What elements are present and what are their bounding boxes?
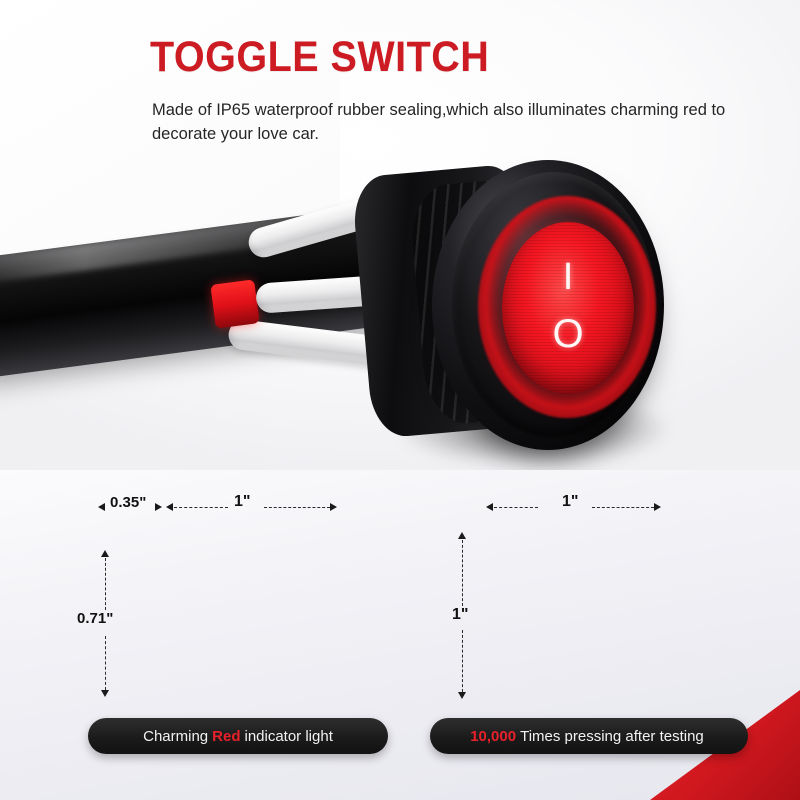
dim-arrow-up-071	[101, 550, 109, 557]
page-subtitle: Made of IP65 waterproof rubber sealing,w…	[152, 99, 752, 147]
dim-arrow-down-height	[458, 692, 466, 699]
dim-arrow-right-1in	[330, 503, 337, 511]
cable-red-band	[210, 279, 259, 328]
dim-line-1in-right	[264, 507, 330, 508]
dim-arrow-right-035	[155, 503, 162, 511]
dim-line-height-bottom	[462, 630, 463, 692]
dim-arrow-left-1in	[166, 503, 173, 511]
dim-line-width-right	[592, 507, 654, 508]
specs-section: 0.35" 1" 0.71" 0.92" 1"	[0, 470, 800, 800]
caption-left-highlight: Red	[212, 728, 240, 745]
dimension-body-length: 1"	[234, 493, 250, 511]
caption-press-cycles: 10,000 Times pressing after testing	[430, 718, 748, 754]
dim-arrow-right-width	[654, 503, 661, 511]
dim-arrow-down-071	[101, 690, 109, 697]
dim-line-071-bottom	[105, 636, 106, 690]
dimension-boot-depth: 0.35"	[110, 494, 146, 511]
caption-left-before: Charming	[143, 728, 208, 745]
rocker-mark-off: O	[502, 314, 634, 354]
lens-texture	[502, 222, 634, 394]
product-infographic: TOGGLE SWITCH Made of IP65 waterproof ru…	[0, 0, 800, 800]
dim-arrow-left-035	[98, 503, 105, 511]
caption-indicator-light: Charming Red indicator light	[88, 718, 388, 754]
dim-line-width-left	[494, 507, 538, 508]
caption-right-highlight: 10,000	[470, 728, 516, 745]
dimension-width: 1"	[562, 493, 578, 511]
dimension-terminal-height: 0.71"	[77, 610, 113, 627]
dim-arrow-left-width	[486, 503, 493, 511]
dim-line-071-top	[105, 558, 106, 610]
rocker-mark-on: I	[502, 258, 634, 296]
dim-arrow-up-height	[458, 532, 466, 539]
caption-right-after: Times pressing after testing	[520, 728, 704, 745]
page-title: TOGGLE SWITCH	[150, 36, 489, 79]
hero-section: TOGGLE SWITCH Made of IP65 waterproof ru…	[0, 0, 800, 470]
hero-switch-illuminated-rocker[interactable]: I O	[502, 222, 634, 394]
dimension-height: 1"	[452, 606, 468, 624]
dim-line-height-top	[462, 540, 463, 606]
caption-left-after: indicator light	[244, 728, 332, 745]
dim-line-1in-left	[174, 507, 228, 508]
